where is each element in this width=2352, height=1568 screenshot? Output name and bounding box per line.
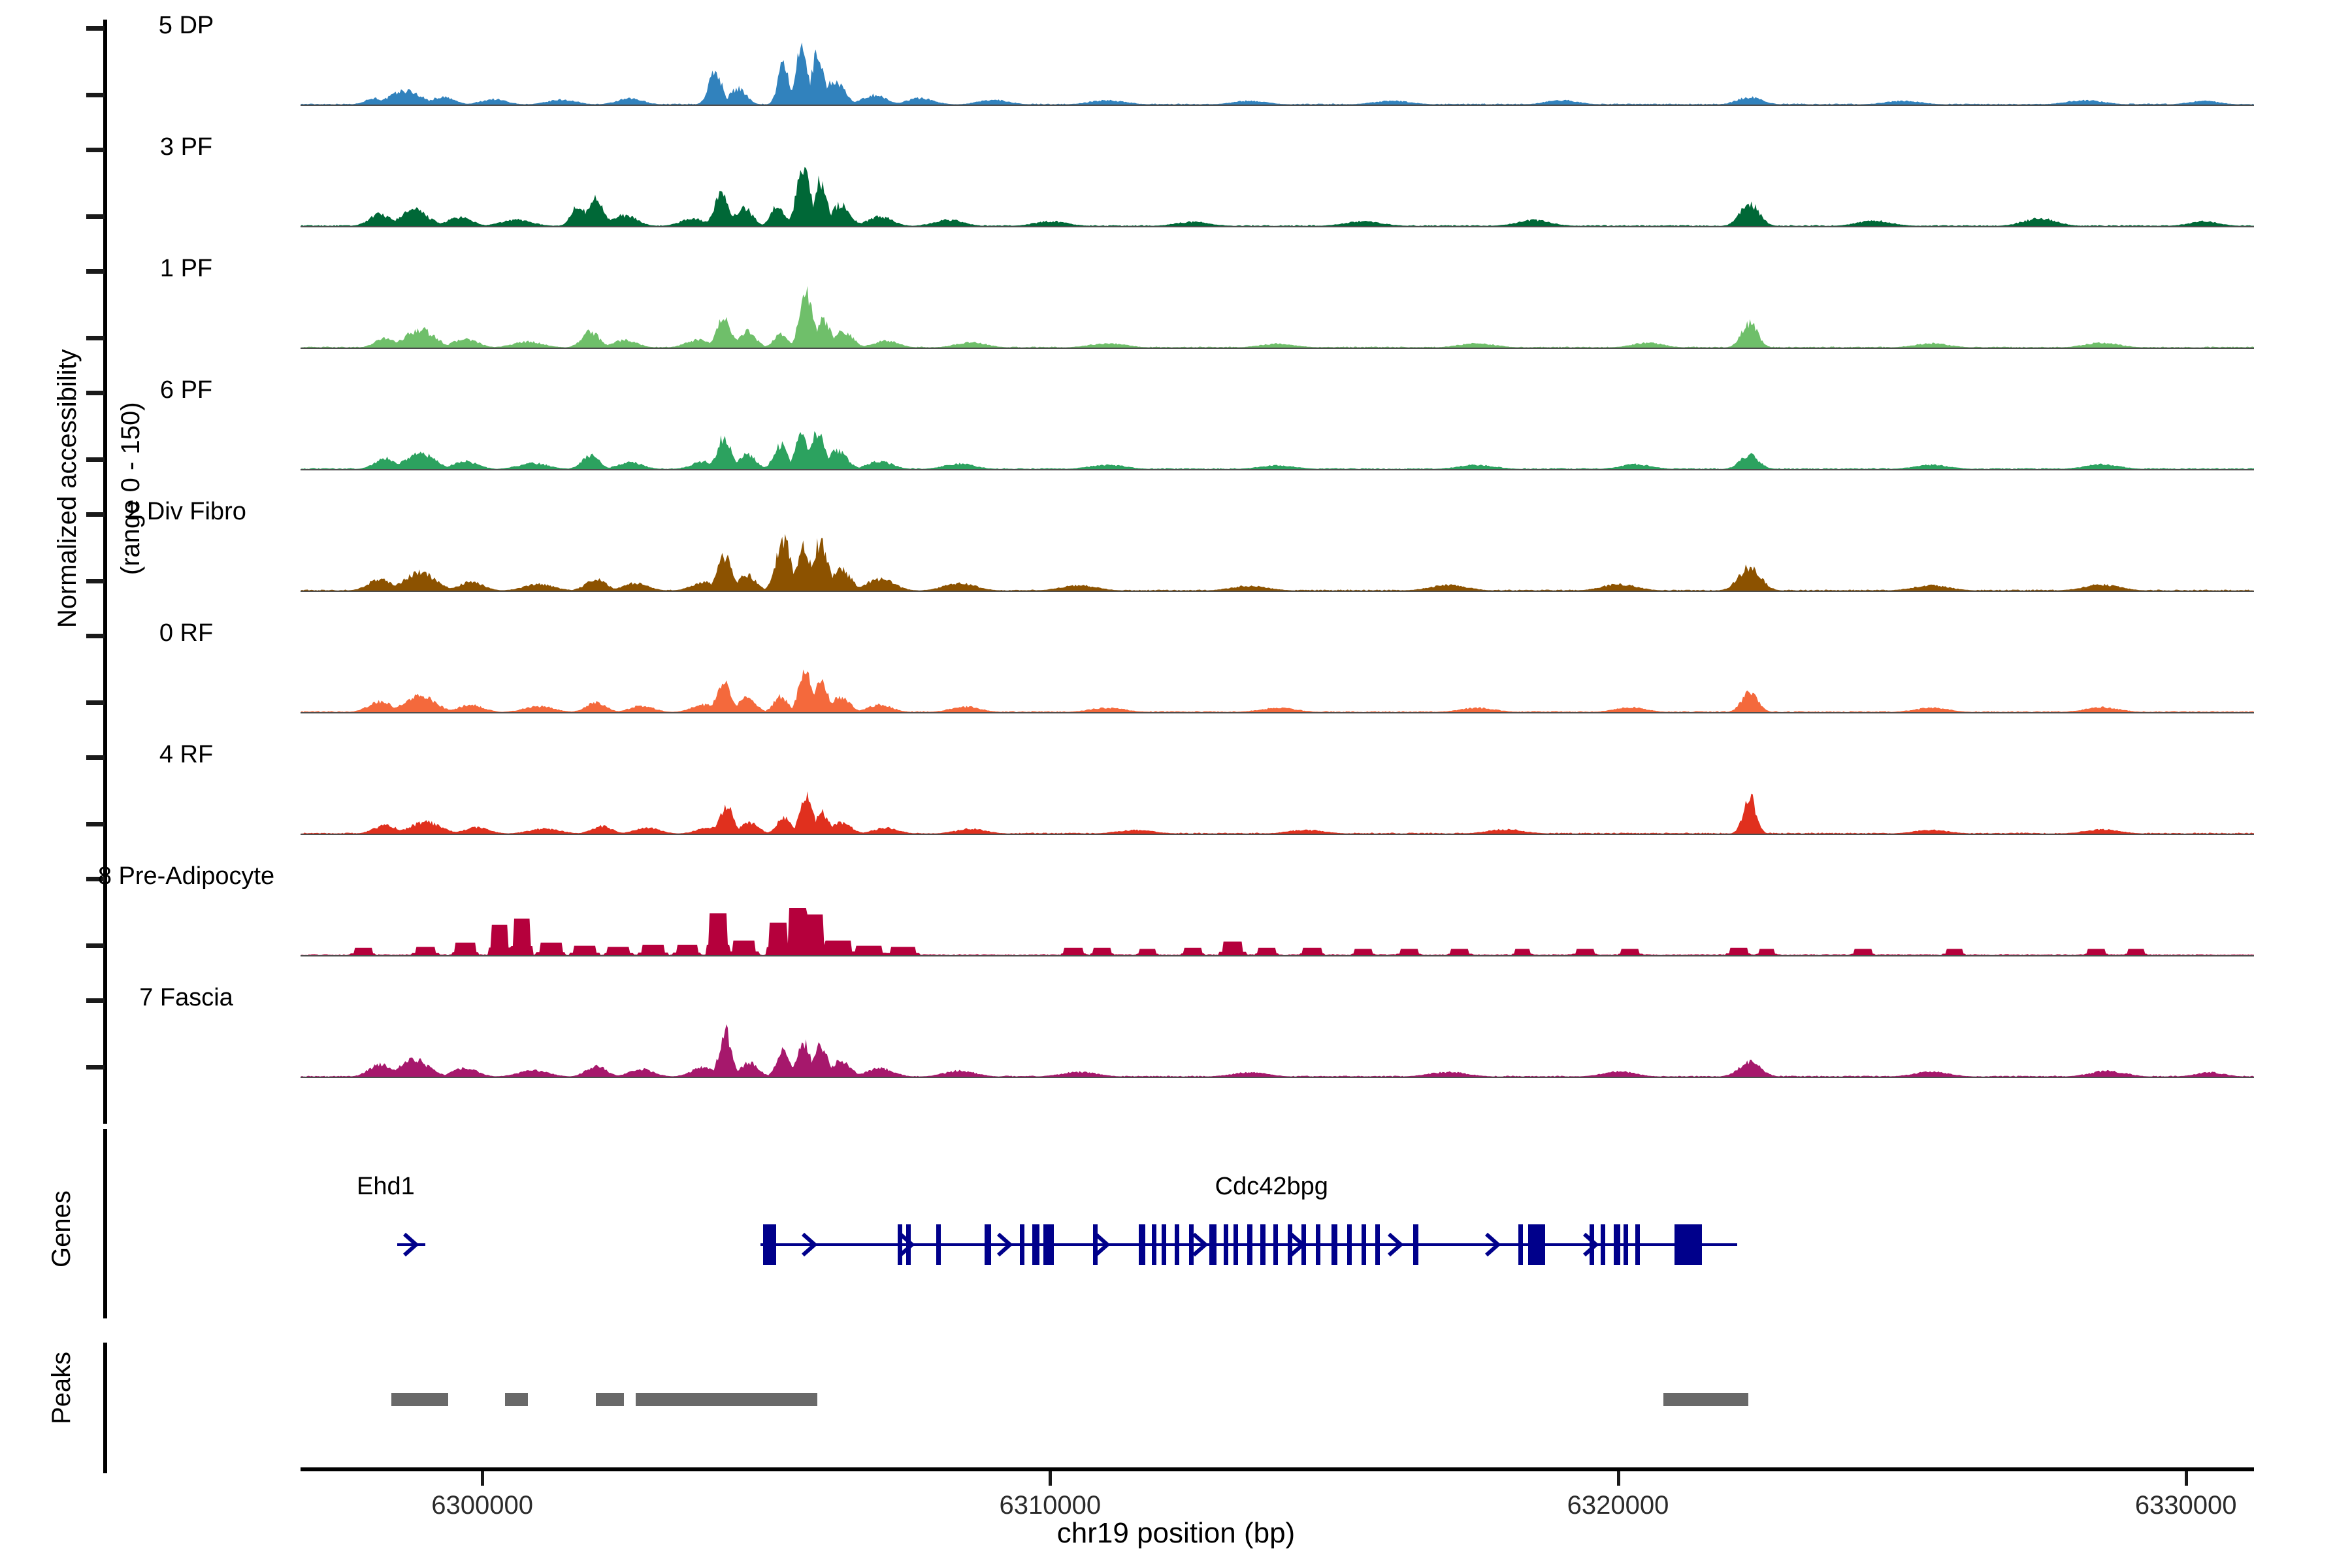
exon-box: [1209, 1224, 1217, 1265]
exon-box: [985, 1224, 991, 1265]
track-label-1-pf: 1 PF: [160, 255, 212, 283]
strand-arrow-icon: [800, 1230, 819, 1262]
x-axis-spine: [301, 1467, 2254, 1471]
exon-box: [1347, 1224, 1352, 1265]
y-tick: [86, 93, 105, 97]
x-tick-label: 6310000: [999, 1491, 1101, 1520]
exon-box: [1601, 1224, 1605, 1265]
peaks-axis-label: Peaks: [47, 1352, 76, 1424]
strand-arrow-icon: [402, 1230, 420, 1262]
y-tick: [86, 457, 105, 462]
exon-box: [1674, 1224, 1702, 1265]
signal-track-1-pf: [301, 269, 2254, 348]
track-baseline: [301, 712, 2254, 713]
signal-track-4-rf: [301, 755, 2254, 834]
x-axis-title-text: chr19 position (bp): [1057, 1517, 1295, 1549]
track-label-6-pf: 6 PF: [160, 376, 212, 404]
exon-box: [1032, 1224, 1039, 1265]
track-baseline: [301, 105, 2254, 106]
signal-track-0-rf: [301, 634, 2254, 712]
y-tick: [86, 214, 105, 219]
peak-bar: [505, 1393, 528, 1406]
y-tick: [86, 148, 105, 152]
exon-box: [906, 1224, 911, 1265]
track-baseline: [301, 348, 2254, 349]
y-tick: [86, 269, 105, 274]
track-baseline: [301, 834, 2254, 835]
x-tick-label: 6320000: [1567, 1491, 1669, 1520]
exon-box: [898, 1224, 902, 1265]
track-label-0-rf: 0 RF: [159, 619, 213, 647]
exon-box: [1020, 1224, 1024, 1265]
exon-box: [763, 1224, 776, 1265]
track-baseline: [301, 591, 2254, 592]
exon-box: [1316, 1224, 1320, 1265]
exon-box: [1189, 1224, 1194, 1265]
genome-browser-figure: Normalized accessibility (range 0 - 150)…: [0, 0, 2352, 1568]
exon-box: [1362, 1224, 1366, 1265]
y-tick: [86, 1065, 105, 1070]
x-axis-title: chr19 position (bp): [1057, 1517, 1295, 1550]
exon-box: [1375, 1224, 1380, 1265]
exon-box: [1614, 1224, 1620, 1265]
exon-box: [936, 1224, 941, 1265]
track-baseline: [301, 226, 2254, 227]
exon-box: [1152, 1224, 1156, 1265]
exon-box: [1139, 1224, 1145, 1265]
y-tick: [86, 822, 105, 826]
gene-label-cdc42bpg: Cdc42bpg: [1215, 1173, 1328, 1201]
x-tick-label: 6300000: [431, 1491, 533, 1520]
strand-arrow-icon: [1386, 1230, 1405, 1262]
track-baseline: [301, 1077, 2254, 1078]
exon-box: [1175, 1224, 1179, 1265]
y-tick: [86, 336, 105, 340]
exon-box: [1635, 1224, 1640, 1265]
exon-box: [1331, 1224, 1338, 1265]
x-tick: [1617, 1471, 1620, 1486]
genes-axis-spine: [103, 1129, 107, 1318]
track-label-5-dp: 5 DP: [159, 12, 214, 40]
track-label-4-rf: 4 RF: [159, 741, 213, 769]
y-tick: [86, 634, 105, 638]
x-tick: [481, 1471, 484, 1486]
exon-box: [1043, 1224, 1054, 1265]
peak-bar: [596, 1393, 624, 1406]
exon-box: [1233, 1224, 1238, 1265]
peak-bar: [1663, 1393, 1748, 1406]
signal-track-5-dp: [301, 26, 2254, 105]
track-label-2-div-fibro: 2 Div Fibro: [126, 498, 246, 526]
exon-box: [1247, 1224, 1252, 1265]
exon-box: [1624, 1224, 1628, 1265]
exon-box: [1413, 1224, 1418, 1265]
gene-label-ehd1: Ehd1: [357, 1173, 415, 1201]
signal-track-2-div-fibro: [301, 512, 2254, 591]
track-label-8-pre-adipocyte: 8 Pre-Adipocyte: [98, 862, 274, 890]
signal-track-3-pf: [301, 148, 2254, 226]
y-tick: [86, 391, 105, 395]
y-tick: [86, 579, 105, 583]
x-tick: [1049, 1471, 1052, 1486]
strand-arrow-icon: [996, 1230, 1014, 1262]
strand-arrow-icon: [1484, 1230, 1502, 1262]
y-tick: [86, 700, 105, 705]
track-baseline: [301, 955, 2254, 956]
x-tick: [2185, 1471, 2188, 1486]
y-tick: [86, 512, 105, 517]
genes-axis-label: Genes: [47, 1190, 76, 1267]
signal-track-8-pre-adipocyte: [301, 877, 2254, 955]
exon-box: [1273, 1224, 1278, 1265]
exon-box: [1162, 1224, 1166, 1265]
y-tick: [86, 943, 105, 948]
exon-box: [1093, 1224, 1098, 1265]
exon-box: [1260, 1224, 1266, 1265]
exon-box: [1288, 1224, 1292, 1265]
x-tick-label: 6330000: [2135, 1491, 2237, 1520]
exon-box: [1518, 1224, 1523, 1265]
track-label-7-fascia: 7 Fascia: [139, 984, 233, 1012]
exon-box: [1224, 1224, 1228, 1265]
peaks-axis-label-text: Peaks: [47, 1352, 76, 1424]
exon-box: [1528, 1224, 1545, 1265]
signal-track-6-pf: [301, 391, 2254, 469]
peak-bar: [636, 1393, 817, 1406]
exon-box: [1301, 1224, 1306, 1265]
tracks-axis-spine: [103, 20, 107, 1124]
track-label-3-pf: 3 PF: [160, 133, 212, 161]
y-tick: [86, 998, 105, 1003]
peak-bar: [391, 1393, 448, 1406]
signal-track-7-fascia: [301, 998, 2254, 1077]
genes-axis-label-text: Genes: [47, 1190, 76, 1267]
y-tick: [86, 755, 105, 760]
peaks-axis-spine: [103, 1343, 107, 1473]
y-axis-label-line1: Normalized accessibility: [53, 349, 82, 628]
track-baseline: [301, 469, 2254, 470]
exon-box: [1590, 1224, 1594, 1265]
y-tick: [86, 26, 105, 31]
y-axis-label-line2: (range 0 - 150): [116, 402, 145, 575]
